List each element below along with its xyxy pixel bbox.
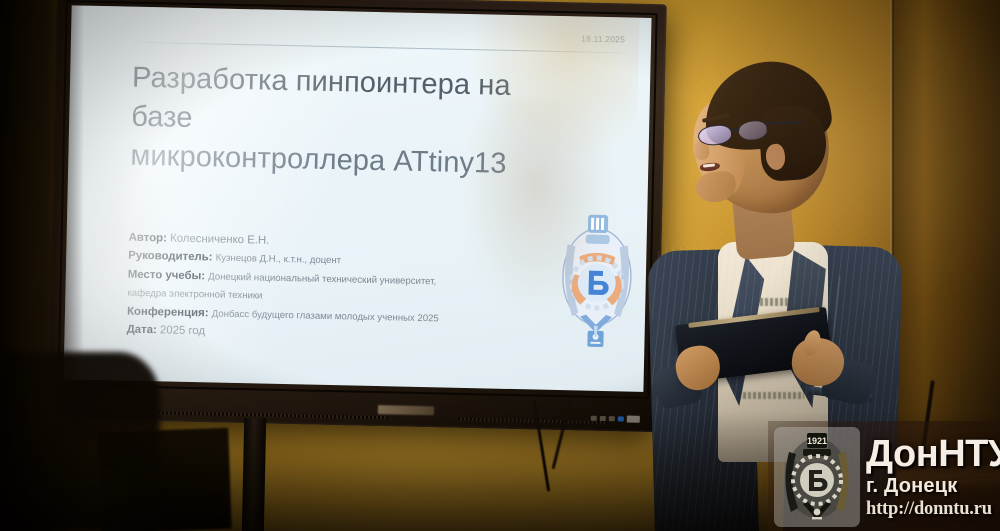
slide-crest-icon bbox=[549, 204, 644, 354]
slide-field-supervisor-value: Кузнецов Д.Н., к.т.н., доцент bbox=[216, 253, 342, 267]
tshirt-print-text-bottom bbox=[738, 392, 804, 399]
glasses-lens-left bbox=[697, 123, 733, 147]
port-usb-2[interactable] bbox=[600, 416, 606, 421]
slide-field-conference-value: Донбасс будущего глазами молодых ученных… bbox=[212, 308, 439, 324]
donntu-crest-svg: 1921 bbox=[777, 430, 857, 524]
slide-header-rule bbox=[123, 41, 629, 53]
slide-title: Разработка пинпоинтера на базе микроконт… bbox=[130, 59, 554, 185]
slide-field-institution-label: Место учебы: bbox=[128, 269, 205, 283]
bezel-brand-logo bbox=[378, 405, 434, 415]
watermark: 1921 ДонНТУ г. Донецк http://donntu.ru bbox=[768, 421, 1000, 531]
slide-field-author-label: Автор: bbox=[129, 232, 167, 245]
watermark-title: ДонНТУ bbox=[866, 435, 1000, 473]
slide-title-line-2: микроконтроллера ATtiny13 bbox=[130, 139, 507, 179]
port-usb-3[interactable] bbox=[609, 416, 615, 421]
slide-field-date-value: 2025 год bbox=[160, 325, 205, 338]
svg-text:1921: 1921 bbox=[807, 436, 827, 446]
bezel-vent-right bbox=[458, 418, 608, 424]
watermark-crest-icon: 1921 bbox=[774, 427, 860, 527]
display-stand-leg bbox=[242, 418, 266, 531]
watermark-text-block: ДонНТУ г. Донецк http://donntu.ru bbox=[866, 435, 1000, 519]
port-usb3[interactable] bbox=[618, 416, 624, 421]
watermark-city: г. Донецк bbox=[866, 476, 957, 496]
display-screen[interactable]: 18.11.2025 Разработка пинпоинтера на баз… bbox=[64, 5, 652, 392]
port-usb-1[interactable] bbox=[591, 416, 597, 421]
port-hdmi[interactable] bbox=[627, 416, 640, 423]
bezel-port-cluster[interactable] bbox=[591, 415, 640, 423]
presentation-slide: 18.11.2025 Разработка пинпоинтера на баз… bbox=[64, 5, 652, 392]
foreground-left-shadow bbox=[0, 0, 84, 531]
photo-scene: 18.11.2025 Разработка пинпоинтера на баз… bbox=[0, 0, 1000, 531]
slide-field-supervisor-label: Руководитель: bbox=[128, 250, 213, 264]
slide-detail-block: Автор: Колесниченко Е.Н. Руководитель: К… bbox=[126, 229, 468, 347]
slide-field-author-value: Колесниченко Е.Н. bbox=[170, 233, 270, 247]
watermark-url: http://donntu.ru bbox=[866, 500, 992, 519]
slide-date-stamp: 18.11.2025 bbox=[581, 33, 625, 44]
slide-field-date-label: Дата: bbox=[126, 324, 156, 337]
slide-field-conference-label: Конференция: bbox=[127, 305, 209, 319]
slide-title-line-1: Разработка пинпоинтера на базе bbox=[131, 62, 511, 134]
